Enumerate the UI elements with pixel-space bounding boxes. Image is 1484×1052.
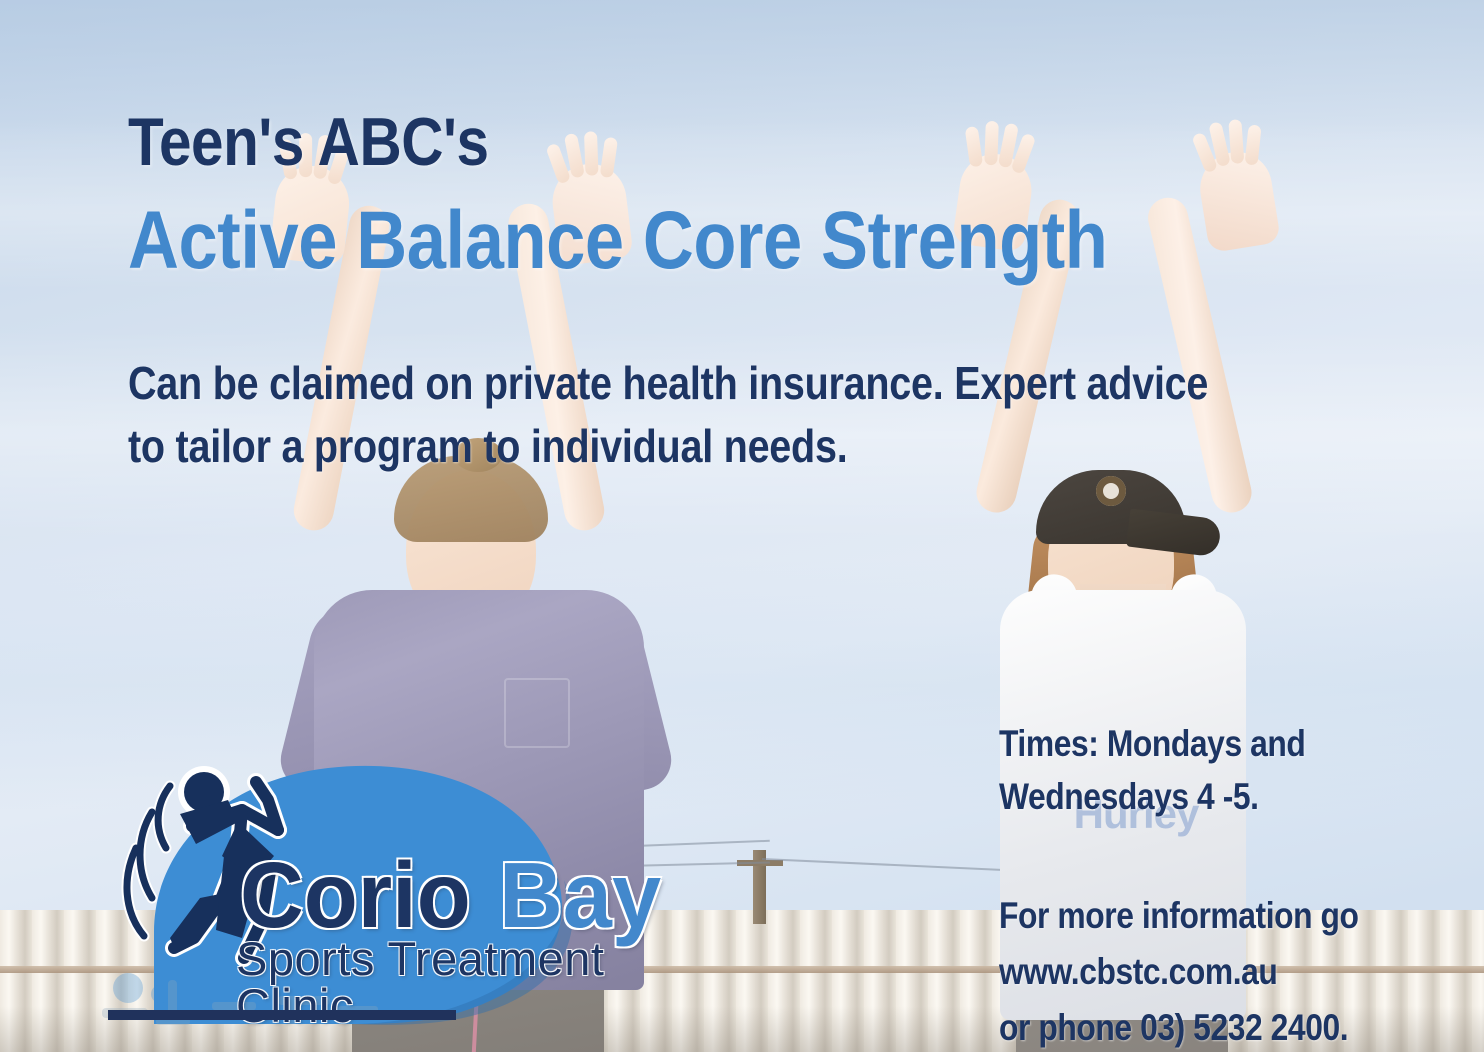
contact-website[interactable]: www.cbstc.com.au <box>999 944 1403 1000</box>
logo-word-bay: Bay <box>499 849 661 942</box>
girl-shirt-pocket <box>504 678 570 748</box>
boy-right-hand <box>1195 147 1281 253</box>
contact-block: For more information go www.cbstc.com.au… <box>999 888 1403 1052</box>
logo-underline-bar <box>108 1010 456 1020</box>
contact-phone: or phone 03) 5232 2400. <box>999 1000 1403 1052</box>
logo-word-corio: Corio <box>240 849 471 942</box>
session-times: Times: Mondays and Wednesdays 4 -5. <box>999 718 1403 823</box>
poster-canvas: Hurley Teen's ABC's Active Balance Core … <box>0 0 1484 1052</box>
boy-cap-logo-icon <box>1096 476 1126 506</box>
headline-primary: Teen's ABC's <box>128 108 489 176</box>
body-copy: Can be claimed on private health insuran… <box>128 352 1246 479</box>
corio-bay-logo: Corio Bay Sports Treatment Clinic <box>92 752 712 1052</box>
contact-line-1: For more information go <box>999 888 1403 944</box>
headline-secondary: Active Balance Core Strength <box>128 200 1107 282</box>
